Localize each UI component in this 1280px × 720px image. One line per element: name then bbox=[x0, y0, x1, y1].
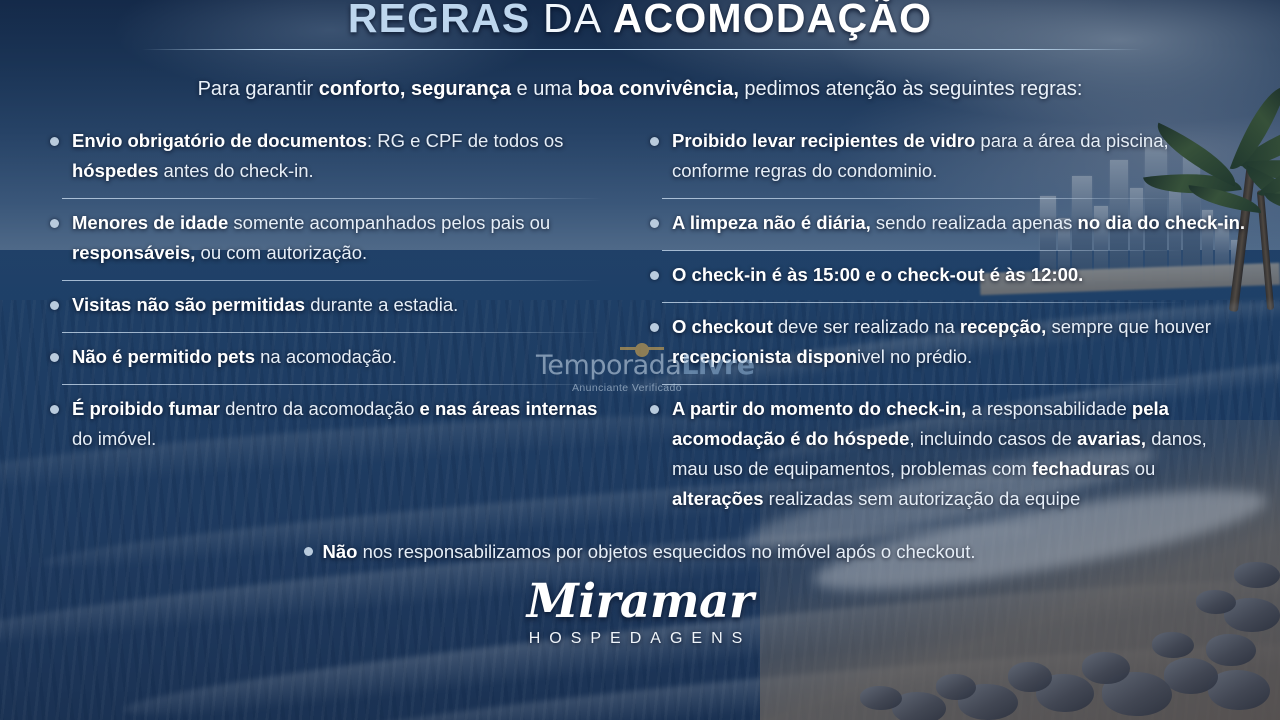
brand-logo: Miramar HOSPEDAGENS bbox=[0, 576, 1280, 648]
bullet-dot-icon bbox=[50, 301, 59, 310]
rule-bold-1: Menores de idade bbox=[72, 212, 228, 233]
rule-text-2: ou com autorização. bbox=[195, 242, 367, 263]
logo-tagline: HOSPEDAGENS bbox=[0, 630, 1280, 648]
rule-bold-2: recepção, bbox=[960, 316, 1046, 337]
rule-divider bbox=[662, 198, 1182, 199]
rule-bold-2: e nas áreas internas bbox=[420, 398, 598, 419]
rule-item: A partir do momento do check-in, a respo… bbox=[646, 394, 1246, 514]
bullet-dot-icon bbox=[50, 137, 59, 146]
rule-text-1: somente acompanhados pelos pais ou bbox=[228, 212, 550, 233]
rule-divider bbox=[62, 332, 602, 333]
rule-text-1: sendo realizada apenas bbox=[871, 212, 1078, 233]
rule-text-1: durante a estadia. bbox=[305, 294, 458, 315]
rule-item: Proibido levar recipientes de vidro para… bbox=[646, 126, 1246, 186]
rule-divider bbox=[662, 302, 1182, 303]
rule-bold-1: Proibido levar recipientes de vidro bbox=[672, 130, 975, 151]
bullet-dot-icon bbox=[50, 353, 59, 362]
subtitle-text-d: boa convivência, bbox=[578, 78, 739, 100]
rule-bold-1: Envio obrigatório de documentos bbox=[72, 130, 367, 151]
rule-bold-2: no dia do check-in. bbox=[1078, 212, 1246, 233]
rule-divider bbox=[62, 280, 602, 281]
rule-item: O checkout deve ser realizado na recepçã… bbox=[646, 312, 1246, 372]
bullet-dot-icon bbox=[650, 405, 659, 414]
rule-item: Não é permitido pets na acomodação. bbox=[46, 342, 616, 372]
rules-column-left: Envio obrigatório de documentos: RG e CP… bbox=[46, 126, 616, 466]
final-rule-text: nos responsabilizamos por objetos esquec… bbox=[357, 541, 975, 562]
rule-bold-2: responsáveis, bbox=[72, 242, 195, 263]
rule-bold-1: Não é permitido pets bbox=[72, 346, 255, 367]
rule-bold-1: O checkout bbox=[672, 316, 773, 337]
rule-bold-2: hóspedes bbox=[72, 160, 158, 181]
rule-text-1: a responsabilidade bbox=[966, 398, 1132, 419]
rule-text-1: deve ser realizado na bbox=[773, 316, 960, 337]
rule-text-2: , incluindo casos de bbox=[909, 428, 1077, 449]
bullet-dot-icon bbox=[50, 219, 59, 228]
bullet-dot-icon bbox=[304, 547, 313, 556]
rule-text-1: dentro da acomodação bbox=[220, 398, 420, 419]
title-divider bbox=[142, 49, 1142, 50]
rule-bold-3: recepcionista dispon bbox=[672, 346, 857, 367]
rule-text-4: s ou bbox=[1120, 458, 1155, 479]
rule-divider bbox=[62, 384, 602, 385]
page-title: REGRAS DA ACOMODAÇÃO bbox=[0, 0, 1280, 38]
rule-item: É proibido fumar dentro da acomodação e … bbox=[46, 394, 616, 454]
bullet-dot-icon bbox=[650, 137, 659, 146]
rule-text-2: sempre que houver bbox=[1046, 316, 1211, 337]
rule-text-2: do imóvel. bbox=[72, 428, 156, 449]
rule-text-2: antes do check-in. bbox=[158, 160, 313, 181]
rule-bold-1: A partir do momento do check-in, bbox=[672, 398, 966, 419]
title-part-acomodacao: ACOMODAÇÃO bbox=[613, 0, 932, 41]
final-rule-bold: Não bbox=[322, 541, 357, 562]
bullet-dot-icon bbox=[650, 271, 659, 280]
rule-text-1: : RG e CPF de todos os bbox=[367, 130, 563, 151]
logo-name: Miramar bbox=[0, 576, 1280, 628]
rule-bold-1: Visitas não são permitidas bbox=[72, 294, 305, 315]
subtitle-text-c: e uma bbox=[511, 78, 578, 100]
bullet-dot-icon bbox=[650, 219, 659, 228]
poster-content: REGRAS DA ACOMODAÇÃO Para garantir confo… bbox=[0, 0, 1280, 720]
title-part-regras: REGRAS bbox=[348, 0, 543, 41]
subtitle: Para garantir conforto, segurança e uma … bbox=[0, 76, 1280, 102]
rule-text-3: ivel no prédio. bbox=[857, 346, 972, 367]
rule-item: O check-in é às 15:00 e o check-out é às… bbox=[646, 260, 1246, 290]
bullet-dot-icon bbox=[650, 323, 659, 332]
rule-item: A limpeza não é diária, sendo realizada … bbox=[646, 208, 1246, 238]
rule-bold-5: alterações bbox=[672, 488, 764, 509]
rule-bold-4: fechadura bbox=[1032, 458, 1120, 479]
rule-bold-1: O check-in é às 15:00 e o check-out é às… bbox=[672, 264, 1083, 285]
rules-column-right: Proibido levar recipientes de vidro para… bbox=[646, 126, 1246, 526]
rule-item: Menores de idade somente acompanhados pe… bbox=[46, 208, 616, 268]
rule-divider bbox=[662, 384, 1182, 385]
subtitle-text-a: Para garantir bbox=[198, 78, 319, 100]
rule-text-1: na acomodação. bbox=[255, 346, 397, 367]
subtitle-text-e: pedimos atenção às seguintes regras: bbox=[739, 78, 1083, 100]
rule-divider bbox=[662, 250, 1182, 251]
title-part-da: DA bbox=[543, 0, 613, 41]
rule-text-5: realizadas sem autorização da equipe bbox=[764, 488, 1081, 509]
subtitle-text-b: conforto, segurança bbox=[319, 78, 511, 100]
rule-divider bbox=[62, 198, 602, 199]
accommodation-rules-poster: REGRAS DA ACOMODAÇÃO Para garantir confo… bbox=[0, 0, 1280, 720]
rule-item: Envio obrigatório de documentos: RG e CP… bbox=[46, 126, 616, 186]
rule-item: Visitas não são permitidas durante a est… bbox=[46, 290, 616, 320]
bullet-dot-icon bbox=[50, 405, 59, 414]
rule-item-final: Não nos responsabilizamos por objetos es… bbox=[0, 538, 1280, 566]
rule-bold-3: avarias, bbox=[1077, 428, 1146, 449]
rule-bold-1: É proibido fumar bbox=[72, 398, 220, 419]
rule-bold-1: A limpeza não é diária, bbox=[672, 212, 871, 233]
